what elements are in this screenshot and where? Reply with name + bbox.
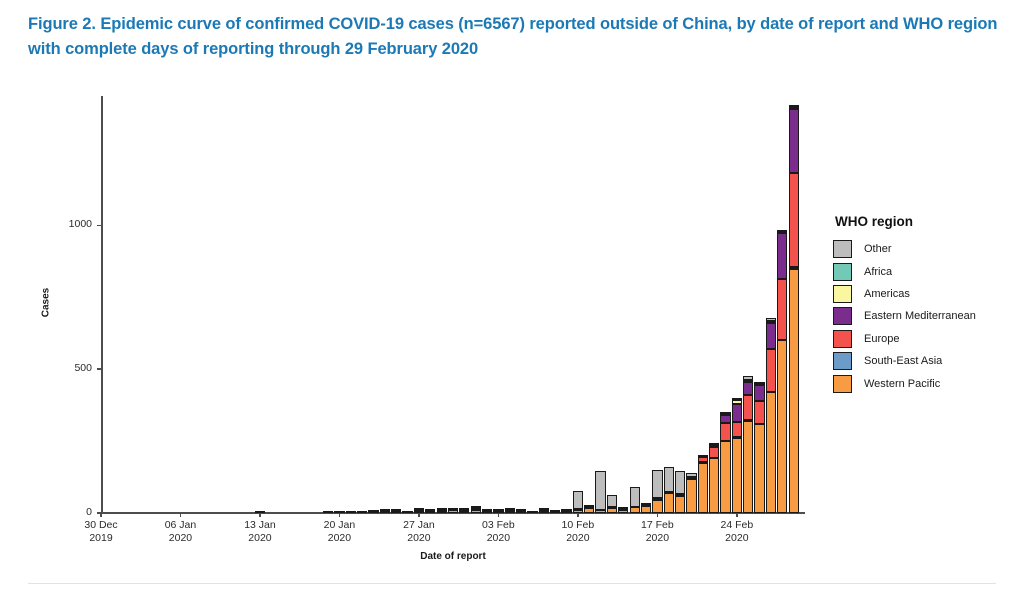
legend-color-swatch [833, 263, 852, 281]
bar-segment [505, 511, 515, 513]
bar-segment [675, 471, 685, 494]
x-tick-mark [498, 513, 500, 517]
bar-segment [777, 233, 787, 279]
bar-segment [732, 400, 742, 405]
bar-segment [709, 447, 719, 459]
bar-segment [766, 323, 776, 349]
x-tick-label: 27 Jan2020 [384, 519, 454, 544]
bar-segment [789, 173, 799, 268]
bar-segment [766, 318, 776, 321]
bar-segment [595, 510, 605, 513]
legend-item[interactable]: Africa [833, 260, 1023, 282]
bar-segment [471, 506, 481, 508]
x-tick-mark [259, 513, 261, 517]
bar-segment [414, 508, 424, 510]
bar-segment [482, 509, 492, 511]
bar-column[interactable] [493, 96, 503, 513]
bar-segment [789, 105, 799, 107]
bar-segment [561, 509, 571, 511]
bar-segment [743, 395, 753, 421]
y-tick-label: 1000 [52, 218, 92, 230]
legend-color-swatch [833, 330, 852, 348]
bar-segment [368, 510, 378, 512]
y-tick-label: 500 [52, 362, 92, 374]
x-tick-label: 24 Feb2020 [702, 519, 772, 544]
bar-segment [732, 398, 742, 400]
bar-segment [402, 511, 412, 513]
bars-container [101, 96, 805, 513]
bar-segment [652, 470, 662, 498]
bar-column[interactable] [448, 96, 458, 513]
legend-color-swatch [833, 352, 852, 370]
bar-segment [414, 511, 424, 513]
bar-column[interactable] [357, 96, 367, 513]
bar-segment [595, 471, 605, 510]
bar-segment [754, 385, 764, 401]
bar-segment [686, 479, 696, 514]
bar-column[interactable] [368, 96, 378, 513]
bar-column[interactable] [641, 96, 651, 513]
legend-color-swatch [833, 240, 852, 258]
bar-segment [527, 511, 537, 513]
bar-segment [754, 382, 764, 384]
bar-segment [437, 508, 447, 510]
bar-segment [789, 109, 799, 172]
y-axis-title: Cases [41, 253, 52, 353]
bar-column[interactable] [527, 96, 537, 513]
bar-column[interactable] [777, 96, 787, 513]
bar-segment [698, 455, 708, 457]
bar-segment [732, 404, 742, 421]
legend-item-label: Americas [864, 288, 910, 300]
bar-segment [357, 511, 367, 513]
legend-color-swatch [833, 285, 852, 303]
bar-column[interactable] [414, 96, 424, 513]
footer-divider [28, 583, 996, 584]
bar-column[interactable] [425, 96, 435, 513]
bar-column[interactable] [459, 96, 469, 513]
bar-column[interactable] [471, 96, 481, 513]
x-tick-label: 13 Jan2020 [225, 519, 295, 544]
x-tick-label: 30 Dec2019 [66, 519, 136, 544]
bar-segment [732, 422, 742, 438]
bar-segment [391, 509, 401, 511]
bar-segment [709, 443, 719, 445]
legend-item[interactable]: Europe [833, 328, 1023, 350]
bar-column[interactable] [595, 96, 605, 513]
bar-segment [777, 279, 787, 339]
bar-column[interactable] [334, 96, 344, 513]
bar-column[interactable] [732, 96, 742, 513]
bar-segment [380, 509, 390, 511]
bar-segment [425, 509, 435, 511]
legend-item-label: Other [864, 243, 892, 255]
bar-column[interactable] [743, 96, 753, 513]
bar-segment [573, 491, 583, 510]
bar-segment [754, 401, 764, 424]
bar-segment [789, 269, 799, 513]
legend-title: WHO region [835, 214, 1023, 229]
legend-item-label: Eastern Mediterranean [864, 310, 976, 322]
bar-segment [720, 423, 730, 440]
legend-item[interactable]: Americas [833, 283, 1023, 305]
bar-segment [641, 503, 651, 505]
bar-column[interactable] [539, 96, 549, 513]
bar-column[interactable] [652, 96, 662, 513]
x-tick-mark [418, 513, 420, 517]
y-tick-label: 0 [52, 506, 92, 518]
x-axis-title: Date of report [383, 551, 523, 562]
bar-column[interactable] [618, 96, 628, 513]
bar-segment [641, 506, 651, 513]
bar-segment [732, 438, 742, 513]
bar-column[interactable] [720, 96, 730, 513]
x-tick-label: 20 Jan2020 [304, 519, 374, 544]
bar-column[interactable] [607, 96, 617, 513]
bar-column[interactable] [255, 96, 265, 513]
bar-column[interactable] [516, 96, 526, 513]
bar-segment [686, 473, 696, 477]
bar-segment [516, 509, 526, 511]
bar-column[interactable] [402, 96, 412, 513]
bar-column[interactable] [550, 96, 560, 513]
bar-segment [573, 510, 583, 513]
bar-segment [743, 376, 753, 380]
bar-segment [777, 230, 787, 232]
bar-segment [334, 511, 344, 513]
bar-segment [618, 510, 628, 513]
bar-segment [437, 511, 447, 513]
legend-item[interactable]: Western Pacific [833, 372, 1023, 394]
bar-column[interactable] [323, 96, 333, 513]
legend-item-label: South-East Asia [864, 355, 942, 367]
bar-segment [493, 509, 503, 511]
legend-item[interactable]: Eastern Mediterranean [833, 305, 1023, 327]
legend-color-swatch [833, 307, 852, 325]
x-tick-label: 10 Feb2020 [543, 519, 613, 544]
bar-segment [777, 340, 787, 513]
bar-segment [459, 508, 469, 510]
bar-column[interactable] [505, 96, 515, 513]
x-tick-label: 17 Feb2020 [622, 519, 692, 544]
legend-item[interactable]: South-East Asia [833, 350, 1023, 372]
bar-column[interactable] [584, 96, 594, 513]
legend-item-label: Western Pacific [864, 378, 940, 390]
bar-segment [709, 445, 719, 447]
bar-segment [686, 477, 696, 479]
bar-column[interactable] [664, 96, 674, 513]
bar-segment [743, 382, 753, 395]
x-tick-mark [657, 513, 659, 517]
bar-segment [743, 421, 753, 513]
legend-item-label: Africa [864, 266, 892, 278]
bar-column[interactable] [380, 96, 390, 513]
bar-segment [789, 107, 799, 109]
bar-column[interactable] [709, 96, 719, 513]
bar-segment [471, 510, 481, 513]
x-tick-mark [736, 513, 738, 517]
x-tick-mark [180, 513, 182, 517]
bar-column[interactable] [346, 96, 356, 513]
bar-segment [664, 467, 674, 492]
bar-column[interactable] [789, 96, 799, 513]
legend-color-swatch [833, 375, 852, 393]
x-tick-mark [577, 513, 579, 517]
bar-column[interactable] [561, 96, 571, 513]
bar-segment [482, 511, 492, 513]
bar-segment [550, 510, 560, 512]
legend-item[interactable]: Other [833, 238, 1023, 260]
bar-segment [664, 493, 674, 513]
bar-segment [539, 511, 549, 513]
bar-segment [584, 508, 594, 513]
x-tick-label: 06 Jan2020 [145, 519, 215, 544]
bar-segment [448, 510, 458, 513]
bar-segment [766, 392, 776, 513]
bar-segment [380, 511, 390, 513]
bar-segment [448, 508, 458, 510]
bar-column[interactable] [630, 96, 640, 513]
legend: WHO region OtherAfricaAmericasEastern Me… [833, 214, 1023, 395]
bar-segment [754, 424, 764, 513]
bar-column[interactable] [766, 96, 776, 513]
bar-segment [346, 511, 356, 513]
bar-segment [630, 507, 640, 513]
x-tick-mark [100, 513, 102, 517]
bar-segment [698, 457, 708, 462]
bar-segment [618, 507, 628, 509]
bar-segment [505, 508, 515, 510]
bar-segment [720, 441, 730, 513]
legend-item-label: Europe [864, 333, 899, 345]
legend-items: OtherAfricaAmericasEastern Mediterranean… [833, 238, 1023, 395]
bar-segment [720, 415, 730, 424]
bar-segment [539, 508, 549, 511]
bar-column[interactable] [754, 96, 764, 513]
bar-segment [766, 349, 776, 392]
bar-column[interactable] [482, 96, 492, 513]
bar-segment [425, 511, 435, 513]
bar-segment [675, 496, 685, 513]
bar-column[interactable] [391, 96, 401, 513]
bar-segment [720, 412, 730, 414]
bar-segment [652, 500, 662, 513]
bar-segment [630, 487, 640, 507]
bar-segment [709, 458, 719, 513]
bar-segment [698, 463, 708, 513]
bar-segment [584, 505, 594, 507]
bar-segment [766, 321, 776, 323]
bar-column[interactable] [437, 96, 447, 513]
bar-segment [607, 495, 617, 508]
bar-segment [255, 511, 265, 513]
bar-column[interactable] [698, 96, 708, 513]
x-tick-mark [339, 513, 341, 517]
bar-segment [323, 511, 333, 513]
bar-column[interactable] [573, 96, 583, 513]
bar-column[interactable] [675, 96, 685, 513]
bar-column[interactable] [686, 96, 696, 513]
x-tick-label: 03 Feb2020 [463, 519, 533, 544]
bar-segment [607, 508, 617, 513]
